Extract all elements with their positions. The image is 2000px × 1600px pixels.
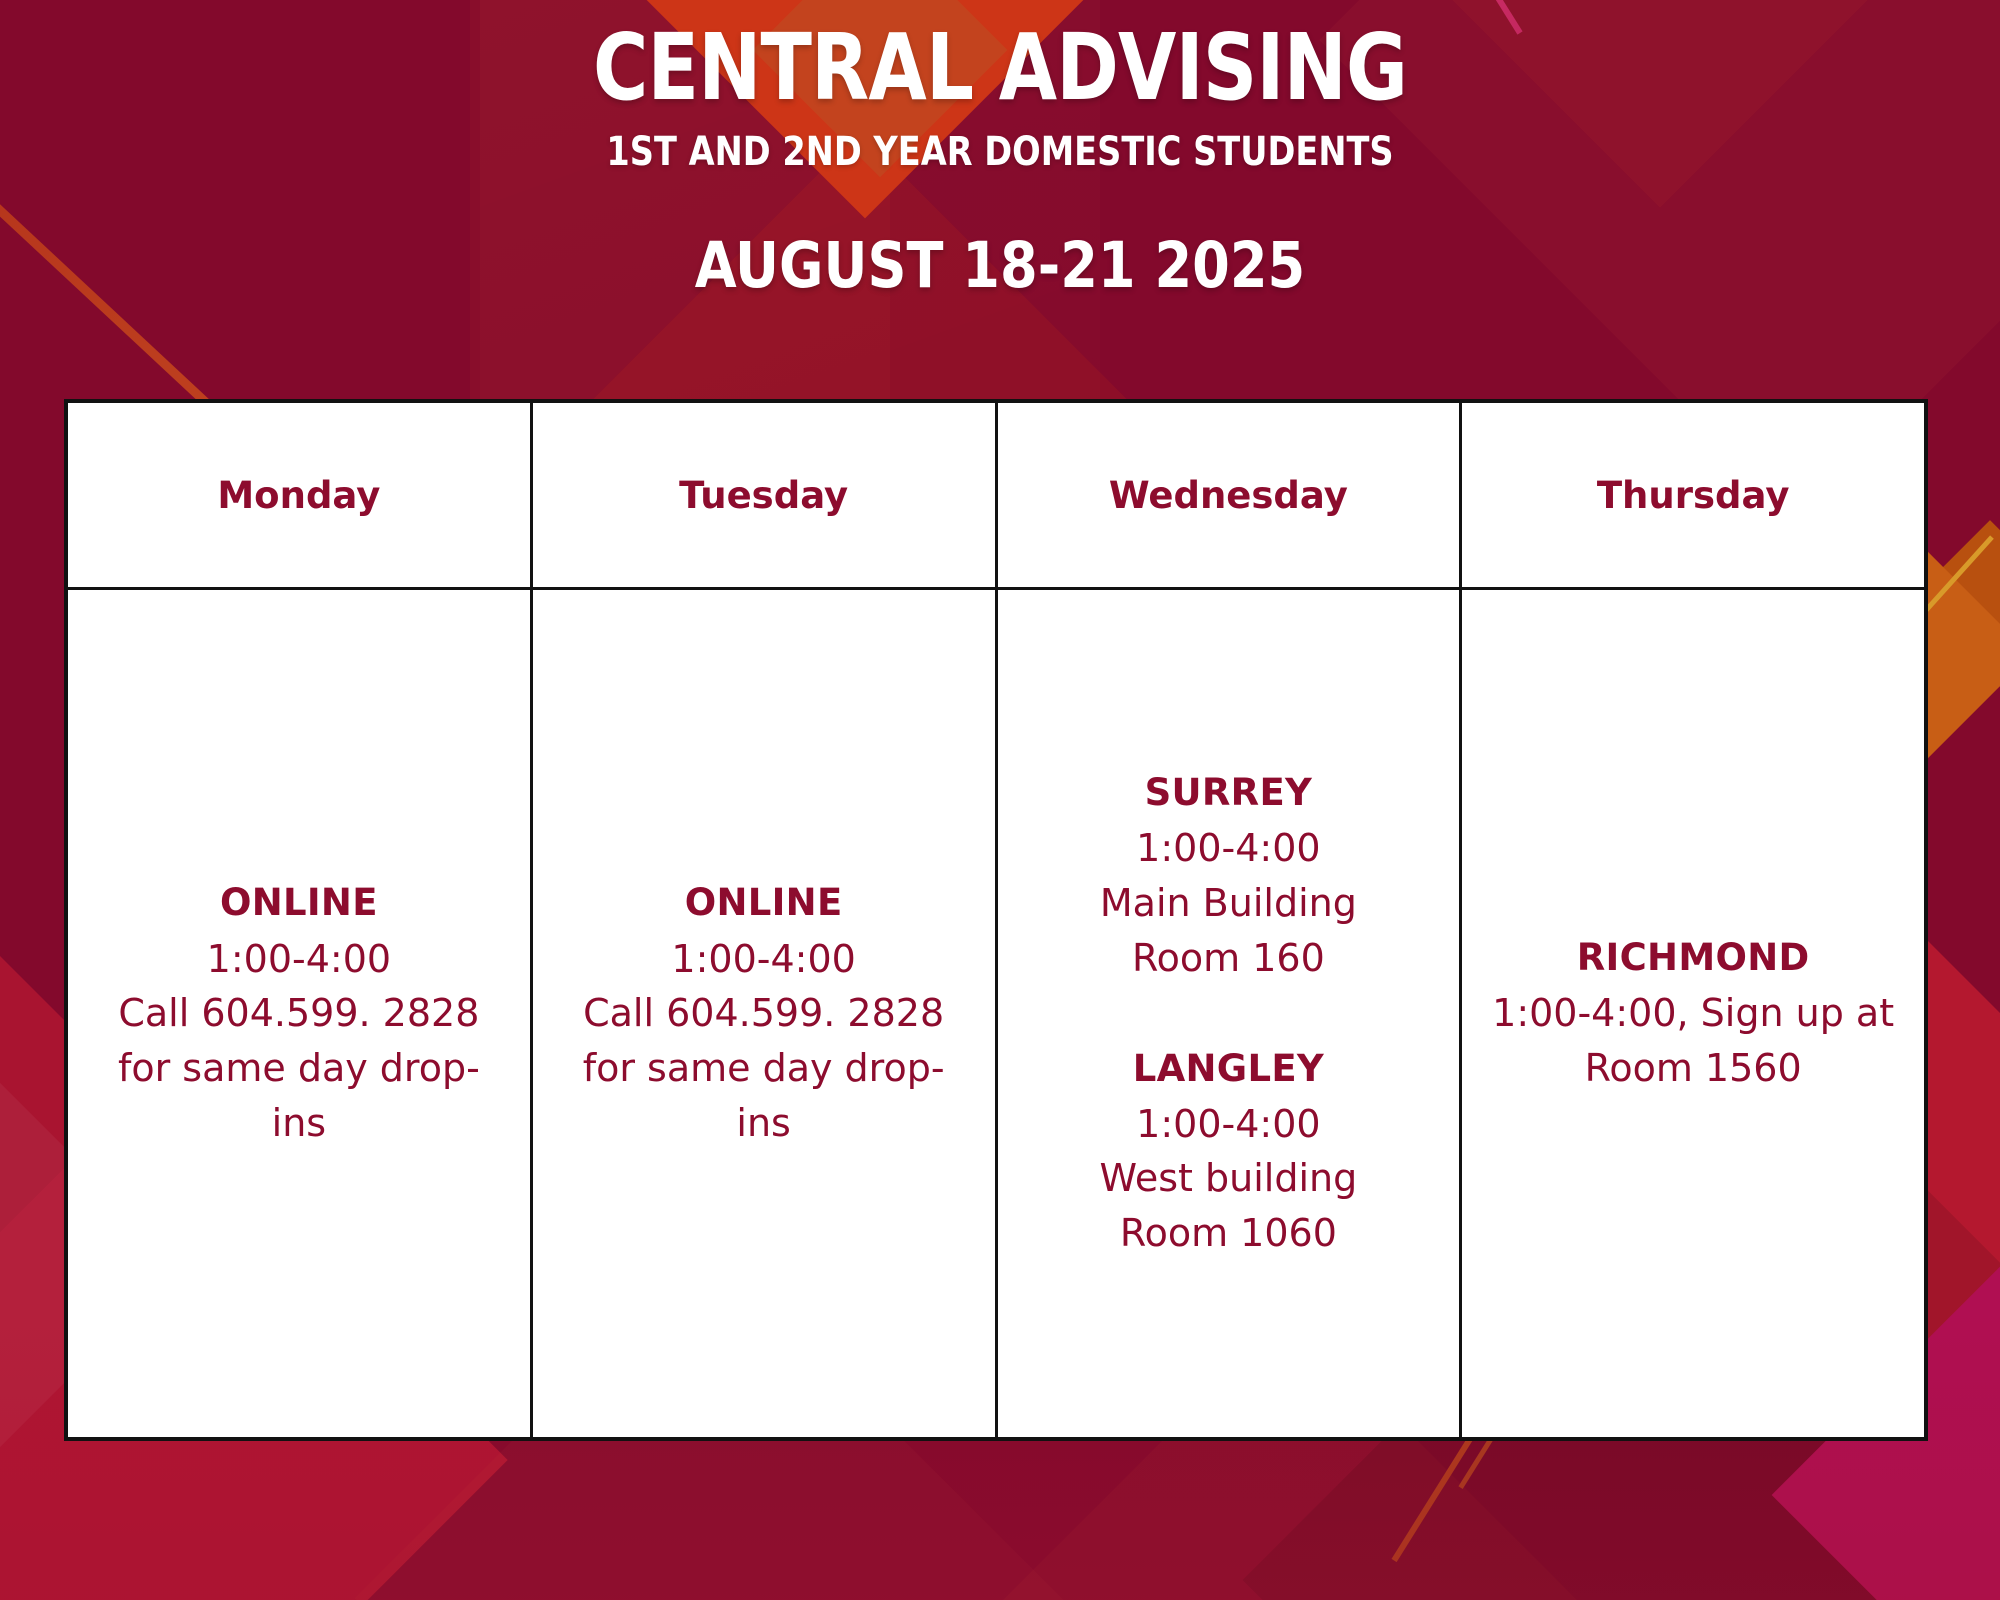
- session-location: ONLINE: [82, 876, 516, 929]
- session-line: 1:00-4:00: [1012, 821, 1446, 876]
- cell-monday: ONLINE 1:00-4:00 Call 604.599. 2828 for …: [67, 589, 532, 1439]
- session-line: Room 160: [1012, 931, 1446, 986]
- session-line: Call 604.599. 2828: [82, 986, 516, 1041]
- session-line: Call 604.599. 2828: [547, 986, 981, 1041]
- session-line: Room 1060: [1012, 1206, 1446, 1261]
- column-header-wednesday: Wednesday: [996, 402, 1461, 589]
- page-title: CENTRAL ADVISING: [180, 22, 1820, 114]
- session-block-online-tuesday: ONLINE 1:00-4:00 Call 604.599. 2828 for …: [547, 876, 981, 1150]
- cell-tuesday: ONLINE 1:00-4:00 Call 604.599. 2828 for …: [531, 589, 996, 1439]
- schedule-table: Monday Tuesday Wednesday Thursday ONLINE…: [65, 400, 1927, 1440]
- session-location: RICHMOND: [1476, 931, 1910, 984]
- session-line: ins: [547, 1096, 981, 1151]
- session-location: SURREY: [1012, 766, 1446, 819]
- session-location: LANGLEY: [1012, 1042, 1446, 1095]
- session-line: 1:00-4:00, Sign up at: [1476, 986, 1910, 1041]
- session-line: 1:00-4:00: [1012, 1097, 1446, 1152]
- session-line: Room 1560: [1476, 1041, 1910, 1096]
- schedule-table-body: ONLINE 1:00-4:00 Call 604.599. 2828 for …: [67, 589, 1926, 1439]
- session-line: 1:00-4:00: [82, 932, 516, 987]
- session-location: ONLINE: [547, 876, 981, 929]
- schedule-table-container: Monday Tuesday Wednesday Thursday ONLINE…: [65, 400, 1927, 1440]
- table-header-row: Monday Tuesday Wednesday Thursday: [67, 402, 1926, 589]
- column-header-monday: Monday: [67, 402, 532, 589]
- cell-wednesday: SURREY 1:00-4:00 Main Building Room 160 …: [996, 589, 1461, 1439]
- session-line: Main Building: [1012, 876, 1446, 931]
- schedule-table-header: Monday Tuesday Wednesday Thursday: [67, 402, 1926, 589]
- session-block-richmond: RICHMOND 1:00-4:00, Sign up at Room 1560: [1476, 931, 1910, 1096]
- session-line: for same day drop-: [82, 1041, 516, 1096]
- column-header-tuesday: Tuesday: [531, 402, 996, 589]
- poster-canvas: CENTRAL ADVISING 1ST AND 2ND YEAR DOMEST…: [0, 0, 2000, 1600]
- column-header-thursday: Thursday: [1461, 402, 1926, 589]
- poster-header: CENTRAL ADVISING 1ST AND 2ND YEAR DOMEST…: [0, 0, 2000, 297]
- table-row: ONLINE 1:00-4:00 Call 604.599. 2828 for …: [67, 589, 1926, 1439]
- session-line: ins: [82, 1096, 516, 1151]
- session-line: West building: [1012, 1151, 1446, 1206]
- date-range: AUGUST 18-21 2025: [140, 234, 1860, 297]
- session-line: 1:00-4:00: [547, 932, 981, 987]
- session-line: for same day drop-: [547, 1041, 981, 1096]
- session-block-langley: LANGLEY 1:00-4:00 West building Room 106…: [1012, 1042, 1446, 1261]
- page-subtitle: 1ST AND 2ND YEAR DOMESTIC STUDENTS: [160, 132, 1840, 172]
- session-block-surrey: SURREY 1:00-4:00 Main Building Room 160: [1012, 766, 1446, 985]
- session-block-online-monday: ONLINE 1:00-4:00 Call 604.599. 2828 for …: [82, 876, 516, 1150]
- cell-thursday: RICHMOND 1:00-4:00, Sign up at Room 1560: [1461, 589, 1926, 1439]
